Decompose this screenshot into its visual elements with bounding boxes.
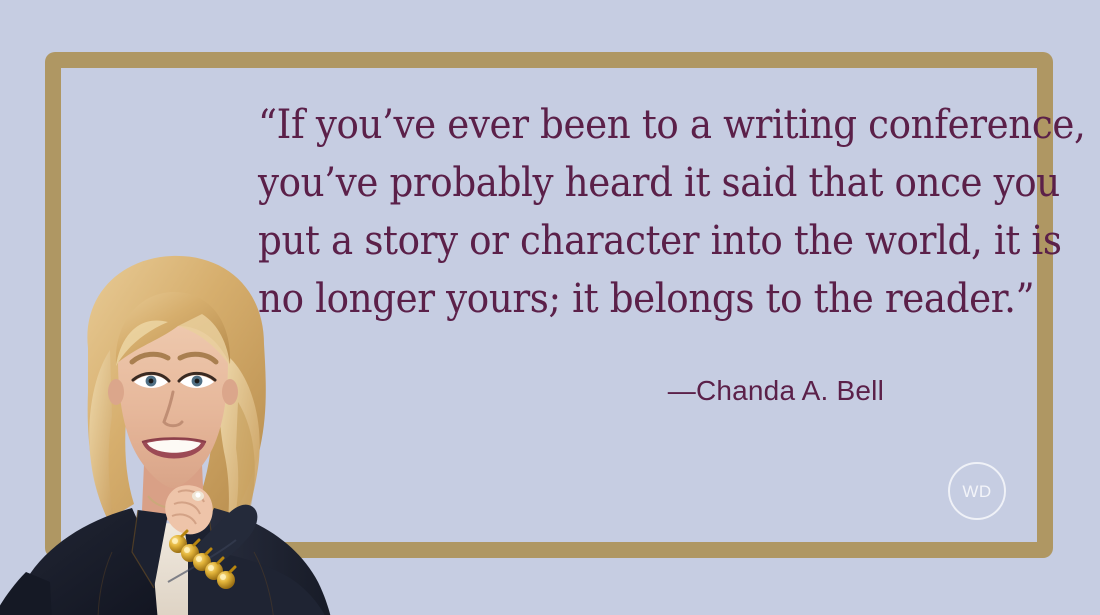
quote-line-3: put a story or character into the world,…	[258, 212, 946, 270]
quote-card-canvas: “If you’ve ever been to a writing confer…	[0, 0, 1100, 615]
quote-line-2: you’ve probably heard it said that once …	[258, 154, 946, 212]
wd-logo-text: WD	[962, 483, 991, 500]
quote-line-1: “If you’ve ever been to a writing confer…	[258, 96, 946, 154]
quote-line-4: no longer yours; it belongs to the reade…	[258, 270, 946, 328]
author-portrait	[0, 252, 352, 615]
quote-text: “If you’ve ever been to a writing confer…	[258, 96, 998, 328]
wd-logo-badge[interactable]: WD	[948, 462, 1006, 520]
